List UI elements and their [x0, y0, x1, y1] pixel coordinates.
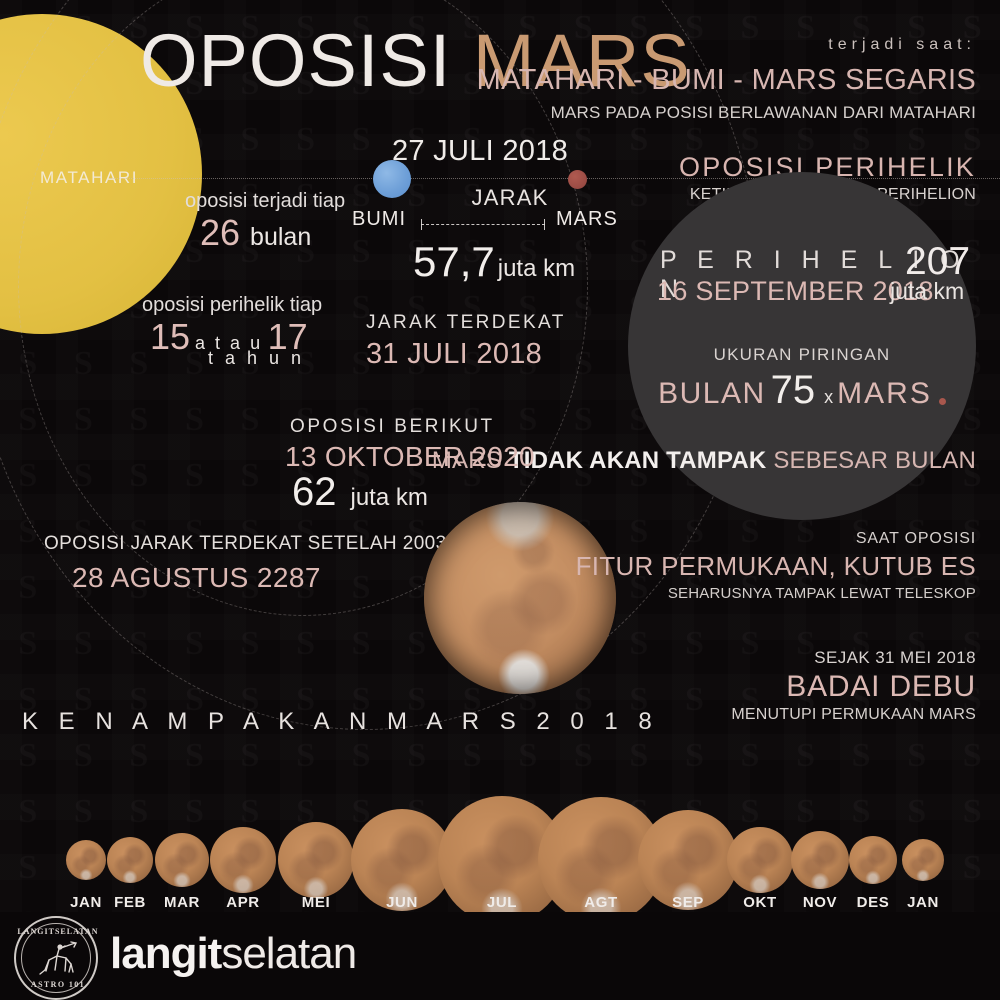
perihelik-unit-tahun: t a h u n: [208, 348, 305, 369]
mars-disc: [791, 831, 849, 889]
ratio-value: 75: [766, 368, 821, 412]
mars-disc: [849, 836, 897, 884]
mars-hero-image: [424, 502, 616, 694]
mars-disc: [66, 840, 106, 880]
dust-kicker: SEJAK 31 MEI 2018: [814, 648, 976, 668]
perihelik-interval-label: oposisi perihelik tiap: [142, 294, 322, 317]
centaur-icon: [35, 940, 81, 980]
perihelion-distance-unit: juta km: [890, 278, 964, 305]
month-label: JUL: [487, 894, 517, 911]
distance-value: 57,7: [413, 238, 495, 285]
month-label: AGT: [584, 894, 617, 911]
month-label: MAR: [164, 894, 200, 911]
oposisi-interval-value: 26bulan: [200, 212, 311, 254]
month-label: JAN: [70, 894, 102, 911]
perihelik-years-1: 15: [150, 316, 190, 357]
mars-disc: [155, 833, 209, 887]
surface-sub: SEHARUSNYA TAMPAK LEWAT TELESKOP: [668, 585, 976, 602]
dust-headline: BADAI DEBU: [786, 670, 976, 704]
oposisi-interval-unit: bulan: [240, 223, 311, 251]
oposisi-interval-number: 26: [200, 212, 240, 253]
mars-label: MARS: [556, 208, 618, 231]
month-label: OKT: [743, 894, 776, 911]
closest-approach-label: JARAK TERDEKAT: [366, 312, 566, 334]
mars-size-chart: JANFEBMARAPRMEIJUNJULAGTSEPOKTNOVDESJAN: [0, 760, 1000, 910]
myth-post: SEBESAR BULAN: [766, 447, 976, 474]
infographic-canvas: SSSSSSSSSSSSSSSSSSSSSSSSSSSSSSSSSSSSSSSS…: [0, 0, 1000, 1000]
terjadi-saat-kicker: terjadi saat:: [828, 36, 976, 54]
month-label: DES: [857, 894, 890, 911]
footer: LANGITSELATAN ASTRO 101 langitselatan la…: [0, 912, 1000, 1000]
dust-sub: MENUTUPI PERMUKAAN MARS: [731, 706, 976, 724]
record-label: OPOSISI JARAK TERDEKAT SETELAH 2003: [44, 533, 447, 555]
mars-disc: [210, 827, 276, 893]
mars-disc: [902, 839, 944, 881]
next-opposition-distance-unit: juta km: [337, 484, 428, 511]
mars-disc: [107, 837, 153, 883]
month-label: JUN: [386, 894, 418, 911]
closest-approach-date: 31 JULI 2018: [366, 338, 542, 371]
mars-dot-icon: [939, 398, 946, 405]
langitselatan-wordmark: langitselatan: [110, 932, 356, 976]
month-label: JAN: [907, 894, 939, 911]
mars-disc: [727, 827, 793, 893]
moon-mars-ratio: BULAN75xMARS: [628, 368, 976, 413]
mars-disc: [278, 822, 354, 898]
chart-title: K E N A M P A K A N M A R S 2 0 1 8: [22, 708, 659, 736]
myth-strong: TIDAK AKAN TAMPAK: [509, 447, 767, 474]
title-part-oposisi: OPOSISI: [140, 19, 451, 102]
next-opposition-date: 13 OKTOBER 2020: [285, 441, 535, 473]
next-opposition-label: OPOSISI BERIKUT: [290, 416, 495, 438]
times-symbol: x: [820, 387, 837, 407]
month-label: SEP: [672, 894, 704, 911]
record-date: 28 AGUSTUS 2287: [72, 562, 321, 594]
logo-arc-bottom: ASTRO 101: [16, 980, 100, 989]
langitselatan-seal-logo: LANGITSELATAN ASTRO 101: [14, 916, 98, 1000]
month-label: APR: [226, 894, 259, 911]
opposition-date: 27 JULI 2018: [365, 135, 595, 168]
alignment-subline: MARS PADA POSISI BERLAWANAN DARI MATAHAR…: [551, 103, 976, 123]
distance-measure-bar: [421, 219, 545, 230]
mars-word: MARS: [837, 377, 932, 410]
oposisi-interval-label: oposisi terjadi tiap: [185, 190, 345, 213]
wordmark-light: selatan: [221, 929, 356, 978]
month-label: FEB: [114, 894, 146, 911]
month-label: MEI: [302, 894, 330, 911]
distance-unit: juta km: [495, 255, 575, 282]
surface-kicker: SAAT OPOSISI: [856, 530, 976, 548]
logo-arc-top: LANGITSELATAN: [16, 927, 100, 936]
next-opposition-distance: 62juta km: [292, 470, 428, 515]
surface-headline: FITUR PERMUKAAN, KUTUB ES: [576, 551, 976, 582]
distance-readout: 57,7juta km: [413, 238, 575, 286]
earth-label: BUMI: [352, 208, 406, 231]
alignment-headline: MATAHARI - BUMI - MARS SEGARIS: [477, 64, 976, 97]
next-opposition-distance-value: 62: [292, 470, 337, 514]
wordmark-bold: langit: [110, 929, 221, 978]
bulan-word: BULAN: [658, 377, 766, 410]
month-label: NOV: [803, 894, 837, 911]
ukuran-piringan-label: UKURAN PIRINGAN: [628, 345, 976, 365]
